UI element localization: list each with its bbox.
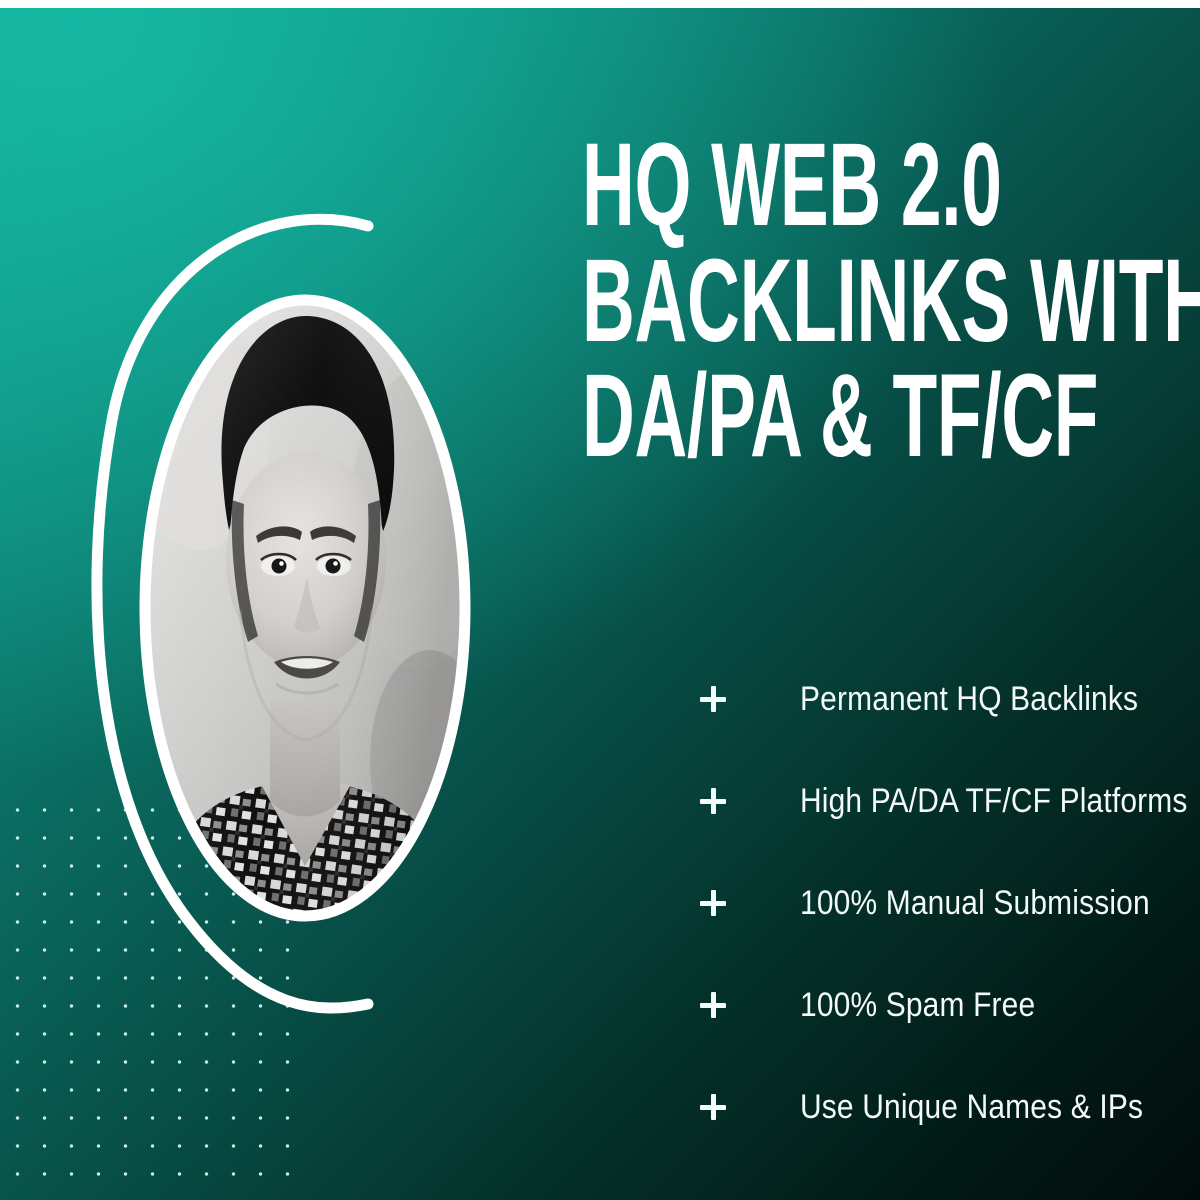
feature-label: High PA/DA TF/CF Platforms [800, 784, 1188, 818]
plus-icon [700, 1094, 726, 1120]
headline-line-3: DA/PA & TF/CF [582, 359, 965, 475]
plus-icon [700, 686, 726, 712]
headline-line-1: HQ WEB 2.0 [582, 128, 965, 244]
list-item: Use Unique Names & IPs [700, 1056, 1200, 1158]
plus-icon [700, 992, 726, 1018]
feature-label: 100% Spam Free [800, 988, 1035, 1022]
headline-line-2: BACKLINKS WITH HIGH [582, 244, 965, 360]
feature-list: Permanent HQ Backlinks High PA/DA TF/CF … [700, 648, 1200, 1158]
portrait-photo [130, 300, 490, 930]
list-item: Permanent HQ Backlinks [700, 648, 1200, 750]
plus-icon [700, 788, 726, 814]
list-item: High PA/DA TF/CF Platforms [700, 750, 1200, 852]
list-item: 100% Spam Free [700, 954, 1200, 1056]
list-item: 100% Manual Submission [700, 852, 1200, 954]
feature-label: Permanent HQ Backlinks [800, 682, 1138, 716]
feature-label: 100% Manual Submission [800, 886, 1150, 920]
plus-icon [700, 890, 726, 916]
portrait-art-group [0, 0, 560, 1200]
top-white-strip [0, 0, 1200, 8]
promo-poster: HQ WEB 2.0 BACKLINKS WITH HIGH DA/PA & T… [0, 0, 1200, 1200]
page-title: HQ WEB 2.0 BACKLINKS WITH HIGH DA/PA & T… [582, 128, 965, 475]
content-column: HQ WEB 2.0 BACKLINKS WITH HIGH DA/PA & T… [578, 0, 1200, 1200]
feature-label: Use Unique Names & IPs [800, 1090, 1143, 1124]
